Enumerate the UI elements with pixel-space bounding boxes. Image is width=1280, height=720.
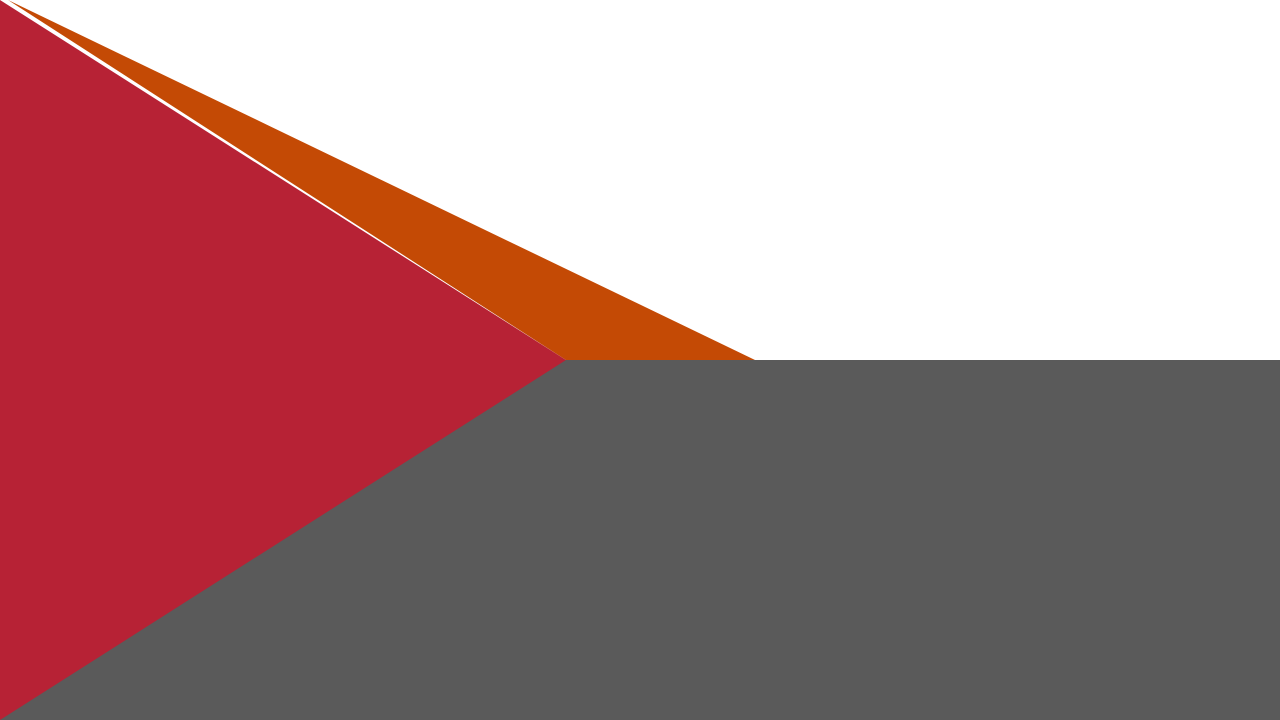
report-cover-page: CATV Amplifiers Market Global Industry A… bbox=[0, 0, 1280, 720]
cover-text-block: CATV Amplifiers Market Global Industry A… bbox=[0, 360, 1280, 720]
